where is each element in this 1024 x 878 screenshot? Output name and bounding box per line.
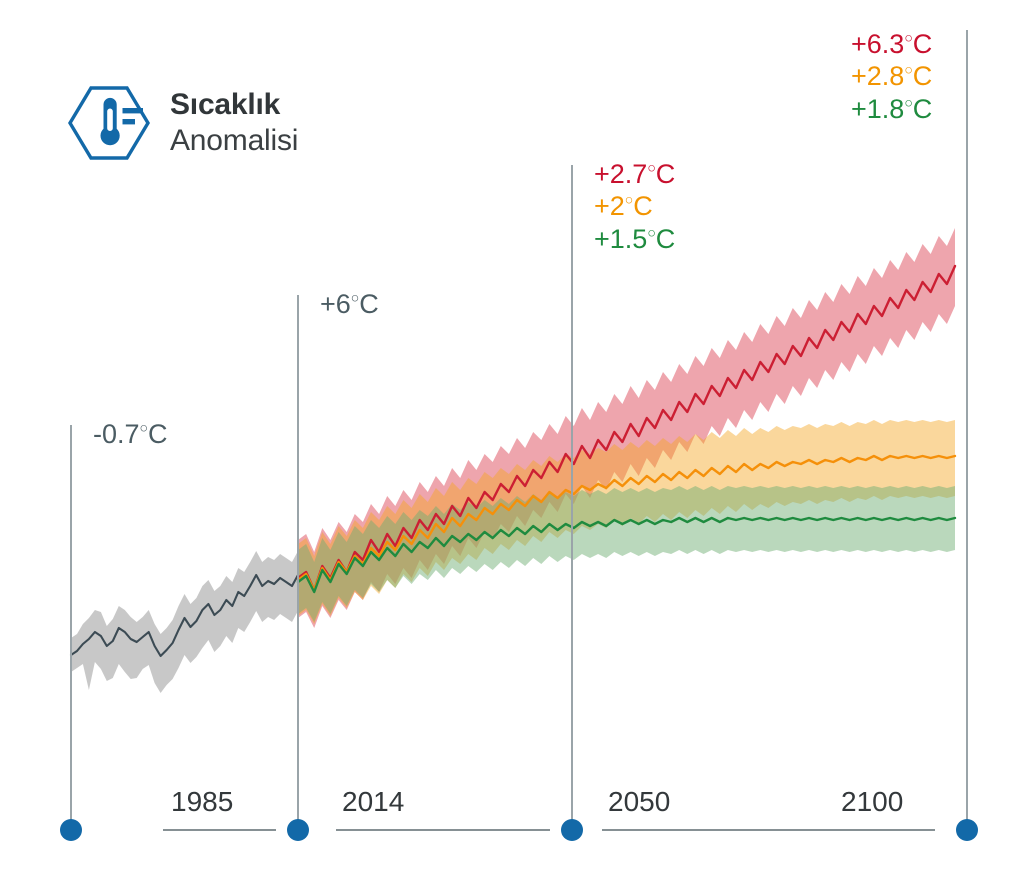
unit-label: C: [656, 159, 676, 189]
degree-symbol: ○: [140, 419, 148, 435]
hexagon-thermometer-icon: [66, 84, 152, 162]
annotation-2100-value-0: +6.3○C: [851, 28, 932, 60]
annotation-2050-value-1: +2○C: [594, 190, 675, 222]
page-title: Sıcaklık Anomalisi: [170, 90, 298, 156]
degree-symbol: ○: [904, 62, 912, 78]
annotation-2100-value-2: +1.8○C: [851, 93, 932, 125]
annotation-1985: -0.7○C: [93, 418, 168, 450]
degree-symbol: ○: [351, 289, 359, 305]
annotation-2100-value-1: +2.8○C: [851, 60, 932, 92]
year-label-1985: 1985: [171, 786, 233, 818]
annotation-2014-value-0: +6○C: [320, 288, 379, 320]
year-label-2050: 2050: [608, 786, 670, 818]
chart-canvas: Sıcaklık Anomalisi -0.7○C+6○C+2.7○C+2○C+…: [0, 0, 1024, 878]
chart-header: Sıcaklık Anomalisi: [66, 84, 298, 162]
degree-symbol: ○: [647, 159, 655, 175]
value-number: +6: [320, 289, 351, 319]
annotation-2014: +6○C: [320, 288, 379, 320]
year-label-2100: 2100: [841, 786, 903, 818]
annotation-2050-value-2: +1.5○C: [594, 223, 675, 255]
annotation-1985-value-0: -0.7○C: [93, 418, 168, 450]
axis-dot-2014[interactable]: [287, 819, 309, 841]
unit-label: C: [148, 419, 168, 449]
degree-symbol: ○: [625, 192, 633, 208]
annotation-2050-value-0: +2.7○C: [594, 158, 675, 190]
title-line-2: Anomalisi: [170, 126, 298, 156]
value-number: +6.3: [851, 29, 904, 59]
unit-label: C: [656, 224, 676, 254]
unit-label: C: [913, 94, 933, 124]
unit-label: C: [633, 191, 653, 221]
axis-dot-2100[interactable]: [956, 819, 978, 841]
title-line-1: Sıcaklık: [170, 90, 298, 126]
year-label-2014: 2014: [342, 786, 404, 818]
annotation-2100: +6.3○C+2.8○C+1.8○C: [851, 28, 932, 125]
value-number: -0.7: [93, 419, 140, 449]
unit-label: C: [913, 29, 933, 59]
degree-symbol: ○: [904, 94, 912, 110]
value-number: +2.8: [851, 61, 904, 91]
axis-rules-and-dots: [60, 819, 978, 841]
value-number: +2.7: [594, 159, 647, 189]
unit-label: C: [359, 289, 379, 319]
value-number: +1.5: [594, 224, 647, 254]
band-historical: [71, 551, 298, 693]
axis-dot-2050[interactable]: [561, 819, 583, 841]
degree-symbol: ○: [904, 29, 912, 45]
value-number: +2: [594, 191, 625, 221]
unit-label: C: [913, 61, 933, 91]
degree-symbol: ○: [647, 224, 655, 240]
annotation-2050: +2.7○C+2○C+1.5○C: [594, 158, 675, 255]
value-number: +1.8: [851, 94, 904, 124]
axis-dot-1985[interactable]: [60, 819, 82, 841]
